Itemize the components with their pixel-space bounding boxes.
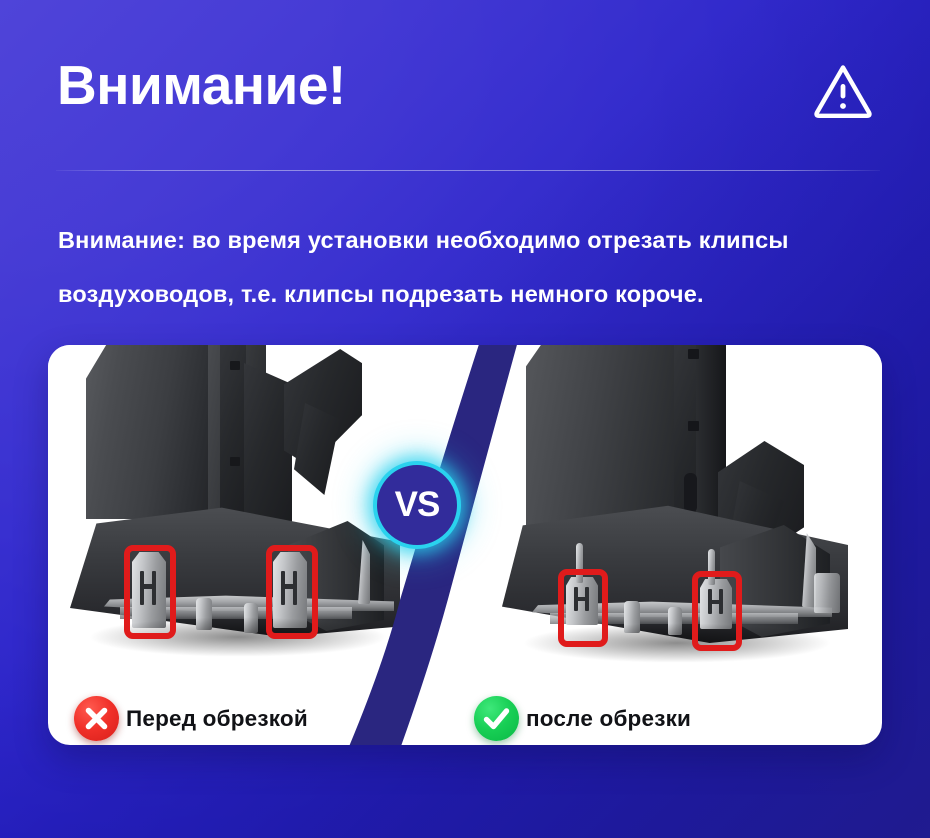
notice-text: Внимание: во время установки необходимо … — [58, 213, 888, 321]
highlight-box-clip-2 — [266, 545, 318, 639]
page-title: Внимание! — [57, 58, 346, 113]
highlight-box-clip-1 — [558, 569, 608, 647]
cross-circle-icon — [74, 696, 119, 741]
vs-label: VS — [395, 485, 440, 525]
comparison-card: Перед обрезкой после обрезки — [48, 345, 882, 745]
duct-part-after — [462, 345, 882, 693]
photo-after-cutting — [462, 345, 882, 693]
highlight-box-clip-2 — [692, 571, 742, 651]
highlight-box-clip-1 — [124, 545, 176, 639]
warning-triangle-icon — [812, 62, 874, 120]
vs-badge: VS — [373, 461, 461, 549]
label-before-text: Перед обрезкой — [126, 706, 308, 732]
header-divider — [56, 170, 880, 171]
label-after-text: после обрезки — [526, 706, 691, 732]
check-circle-icon — [474, 696, 519, 741]
